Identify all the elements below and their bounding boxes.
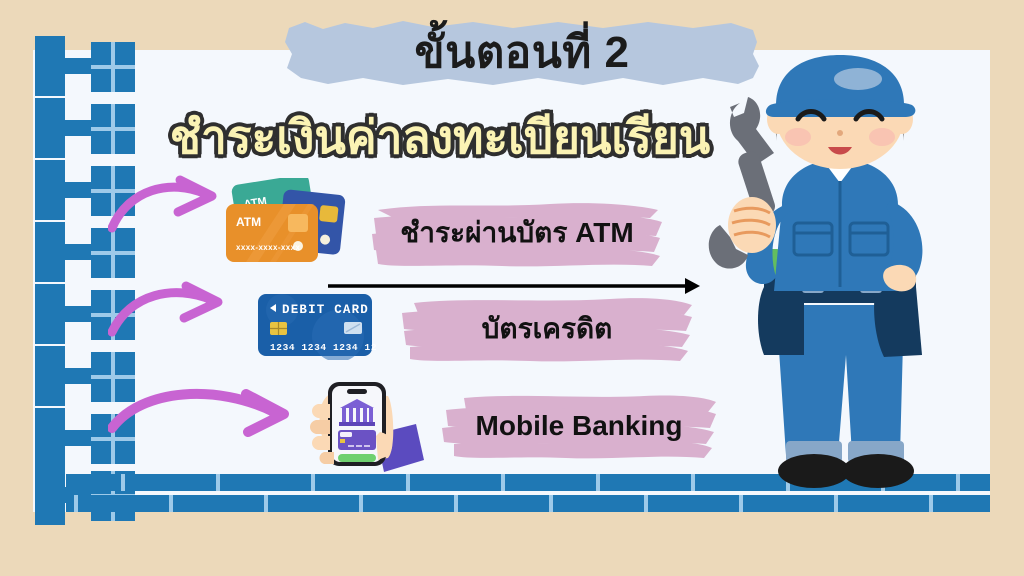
- atm-card-front-label: ATM: [236, 215, 261, 229]
- curved-arrow-icon-1: [108, 172, 226, 239]
- payment-method-1-label: ชำระผ่านบัตร ATM: [370, 196, 664, 270]
- payment-method-2-label: บัตรเครดิต: [400, 293, 694, 365]
- debit-card-icon: DEBIT CARD 1234 1234 1234 1234: [256, 292, 376, 360]
- debit-card-title: DEBIT CARD: [282, 303, 369, 317]
- payment-method-1[interactable]: ชำระผ่านบัตร ATM: [370, 196, 664, 270]
- atm-card-number: xxxx-xxxx-xxxx: [236, 243, 300, 252]
- payment-method-2[interactable]: บัตรเครดิต: [400, 293, 694, 365]
- page-subtitle: ชำระเงินค่าลงทะเบียนเรียน: [140, 101, 740, 174]
- curved-arrow-icon-2: [108, 278, 236, 345]
- payment-method-3-label: Mobile Banking: [440, 390, 718, 462]
- shoe-right: [842, 454, 914, 488]
- payment-method-3[interactable]: Mobile Banking: [440, 390, 718, 462]
- hand-phone-banking-icon: [300, 376, 428, 474]
- credit-card-row: [338, 430, 376, 450]
- mechanic-worker-illustration: [690, 55, 990, 510]
- shoe-left: [778, 454, 850, 488]
- slide-canvas: ขั้นตอนที่ 2 ชำระเงินค่าลงทะเบียนเรียน: [0, 0, 1024, 576]
- confirm-button: [338, 454, 376, 462]
- curved-arrow-icon-3: [108, 382, 300, 459]
- debit-card-number: 1234 1234 1234 1234: [270, 342, 376, 353]
- atm-cards-icon: ATM ATM xxxx-xxxx-xxxx: [218, 178, 348, 278]
